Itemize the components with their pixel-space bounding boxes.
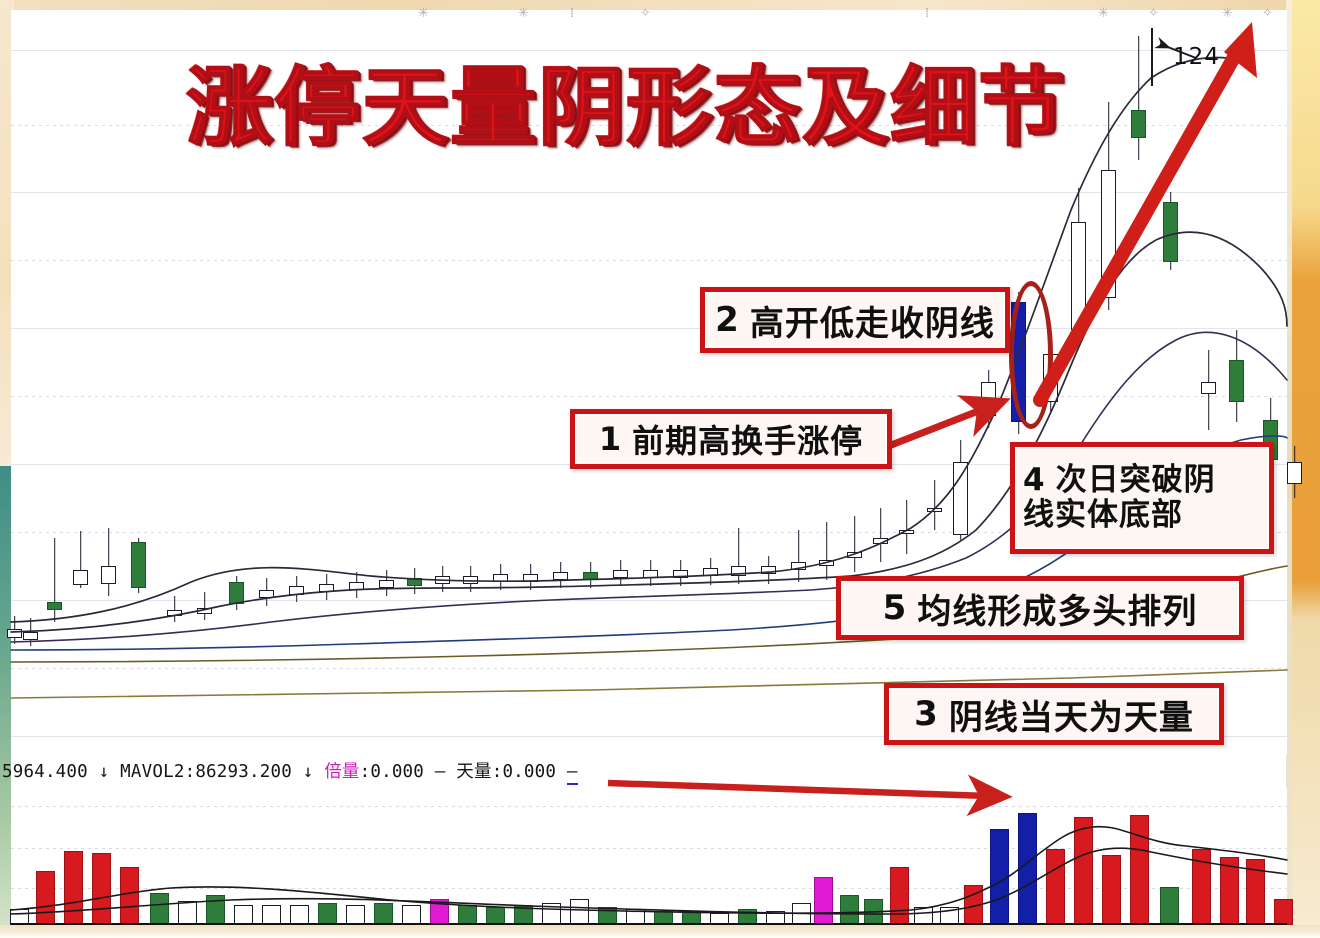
callout-1-text: 前期高换手涨停 xyxy=(632,416,863,462)
callout-next-day-breaks-body-bottom: 4次日突破阴 线实体底部 xyxy=(1010,442,1274,554)
callout-ma-bullish-alignment: 5 均线形成多头排列 xyxy=(836,576,1244,640)
trend-arrow-up xyxy=(1040,52,1237,400)
callout-4-number: 4 xyxy=(1023,462,1046,498)
callout-2-text: 高开低走收阴线 xyxy=(750,296,995,345)
callout-prior-high-turnover-limit-up: 1 前期高换手涨停 xyxy=(570,409,892,469)
callout-1-number: 1 xyxy=(599,420,622,458)
callout-3-text: 阴线当天为天量 xyxy=(949,690,1194,739)
callout-3-number: 3 xyxy=(914,694,939,734)
callout-bearish-day-huge-volume: 3 阴线当天为天量 xyxy=(884,683,1224,745)
callout-4-line-2: 线实体底部 xyxy=(1023,498,1183,533)
callout-5-text: 均线形成多头排列 xyxy=(917,584,1197,633)
price-label-pointer xyxy=(1160,44,1196,58)
callout-5-number: 5 xyxy=(883,588,908,628)
arrow-volume-climax xyxy=(608,783,988,796)
callout-2-number: 2 xyxy=(715,300,740,340)
callout-4-line-1: 4次日突破阴 xyxy=(1023,463,1216,498)
arrow-callout-1 xyxy=(886,408,986,447)
callout-gap-up-close-down: 2 高开低走收阴线 xyxy=(700,287,1010,353)
callout-4-text-1: 次日突破阴 xyxy=(1056,462,1216,498)
chart-screenshot: ✳✳⁞✧⁞✳✧✳✧ 5964.400 ↓ MAVOL2:86293.200 ↓ … xyxy=(0,0,1320,938)
